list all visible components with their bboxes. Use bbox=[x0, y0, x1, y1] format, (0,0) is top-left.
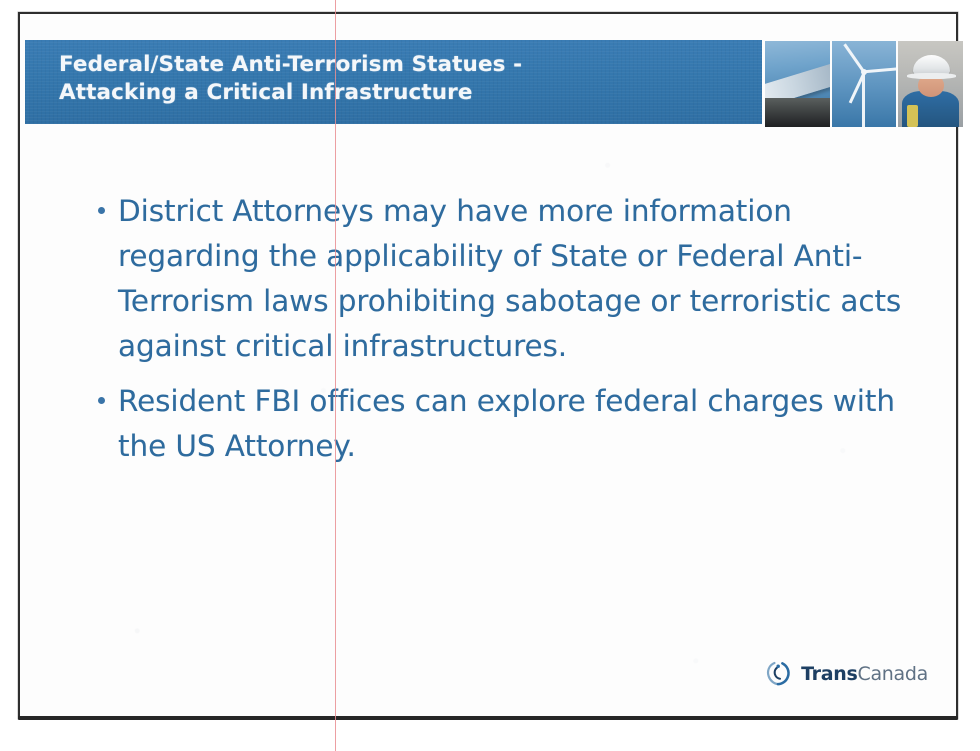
bullet-text: Resident FBI offices can explore federal… bbox=[118, 379, 908, 469]
turbine-tower bbox=[862, 70, 865, 127]
bullet-item: District Attorneys may have more informa… bbox=[90, 189, 908, 369]
transcanada-logo: TransCanada bbox=[765, 660, 928, 687]
transcanada-wordmark: TransCanada bbox=[801, 663, 928, 685]
transcanada-swoosh-icon bbox=[765, 660, 792, 687]
pipeline-construction-photo bbox=[765, 41, 830, 127]
worker-hard-hat-photo bbox=[898, 41, 963, 127]
hard-hat-brim bbox=[907, 73, 956, 79]
bullet-dot-icon bbox=[98, 397, 105, 404]
turbine-blade bbox=[843, 43, 865, 72]
worker-vest bbox=[907, 105, 917, 127]
slide-body: District Attorneys may have more informa… bbox=[90, 189, 908, 479]
page-title: Federal/State Anti-Terrorism Statues - A… bbox=[59, 51, 752, 107]
bullet-dot-icon bbox=[98, 207, 105, 214]
bullet-item: Resident FBI offices can explore federal… bbox=[90, 379, 908, 469]
logo-word-trans: Trans bbox=[801, 663, 857, 685]
turbine-blade bbox=[864, 68, 896, 73]
slide-frame: Federal/State Anti-Terrorism Statues - A… bbox=[18, 12, 958, 719]
turbine-hub bbox=[861, 69, 867, 75]
title-band: Federal/State Anti-Terrorism Statues - A… bbox=[25, 40, 762, 124]
wind-turbine-photo bbox=[832, 41, 897, 127]
header-photo-strip bbox=[765, 41, 963, 127]
slide-header: Federal/State Anti-Terrorism Statues - A… bbox=[25, 40, 954, 126]
logo-word-canada: Canada bbox=[858, 663, 929, 685]
scanned-page: Federal/State Anti-Terrorism Statues - A… bbox=[0, 0, 980, 751]
bullet-text: District Attorneys may have more informa… bbox=[118, 189, 908, 369]
